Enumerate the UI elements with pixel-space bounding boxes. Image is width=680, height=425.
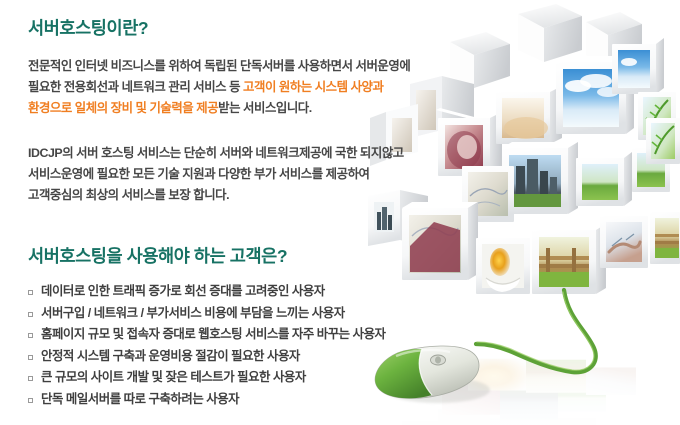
cube-frame-cream	[496, 86, 562, 144]
list-item: 데이터로 인한 트래픽 증가로 회선 증대를 고려중인 사용자	[28, 281, 458, 303]
page-title-target-customers: 서버호스팅을 사용해야 하는 고객은?	[28, 246, 458, 267]
section-spacer	[28, 206, 458, 246]
intro-p2-line1: IDCJP의 서버 호스팅 서비스는 단순히 서버와 네트워크제공에 국한 되지…	[28, 146, 404, 160]
cube-frame-grassfield	[576, 152, 632, 206]
intro-p1-line2-plain: 필요한 전용회선과 네트워크 관리 서비스 등	[28, 80, 243, 94]
intro-p1-line3-plain: 받는 서비스입니다.	[218, 101, 312, 115]
intro-p2-line2: 서비스운영에 필요한 모든 기술 지원과 다양한 부가 서비스를 제공하여	[28, 167, 369, 181]
cube-plain-back-1	[518, 4, 582, 62]
cube-frame-sky-small	[612, 38, 664, 94]
intro-paragraph-2: IDCJP의 서버 호스팅 서비스는 단순히 서버와 네트워크제공에 국한 되지…	[28, 143, 458, 206]
cube-frame-golden-egg	[476, 238, 530, 294]
cube-plain-back-2	[450, 32, 510, 88]
list-item: 서버구입 / 네트워크 / 부가서비스 비용에 부담을 느끼는 사용자	[28, 303, 458, 325]
cube-frame-fence-grass	[532, 224, 606, 294]
intro-p2-line3: 고객중심의 최상의 서비스를 보장 합니다.	[28, 188, 229, 202]
list-item: 큰 규모의 사이트 개발 및 잦은 테스트가 필요한 사용자	[28, 367, 458, 389]
intro-paragraph-1: 전문적인 인터넷 비즈니스를 위하여 독립된 단독서버를 사용하면서 서버운영에…	[28, 56, 458, 119]
page-root: 서버호스팅이란? 전문적인 인터넷 비즈니스를 위하여 독립된 단독서버를 사용…	[0, 0, 680, 425]
cube-frame-palm-mid	[646, 118, 680, 164]
content-column: 서버호스팅이란? 전문적인 인터넷 비즈니스를 위하여 독립된 단독서버를 사용…	[28, 0, 458, 410]
page-title-intro: 서버호스팅이란?	[28, 18, 458, 39]
list-item: 안정적 시스템 구축과 운영비용 절감이 필요한 사용자	[28, 346, 458, 368]
cube-frame-fence-right	[650, 212, 680, 264]
cube-frame-handshake	[600, 216, 648, 268]
list-item: 홈페이지 규모 및 접속자 증대로 웹호스팅 서비스를 자주 바꾸는 사용자	[28, 324, 458, 346]
intro-p1-line3-highlight: 환경으로 일체의 장비 및 기술력을 제공	[28, 101, 218, 115]
intro-p1-line1: 전문적인 인터넷 비즈니스를 위하여 독립된 단독서버를 사용하면서 서버운영에	[28, 59, 410, 73]
target-customers-list: 데이터로 인한 트래픽 증가로 회선 증대를 고려중인 사용자 서버구입 / 네…	[28, 281, 458, 410]
list-item: 단독 메일서버를 따로 구축하려는 사용자	[28, 389, 458, 411]
list-spacer	[28, 267, 458, 281]
intro-p1-line2-highlight: 고객이 원하는 시스템 사양과	[243, 80, 383, 94]
